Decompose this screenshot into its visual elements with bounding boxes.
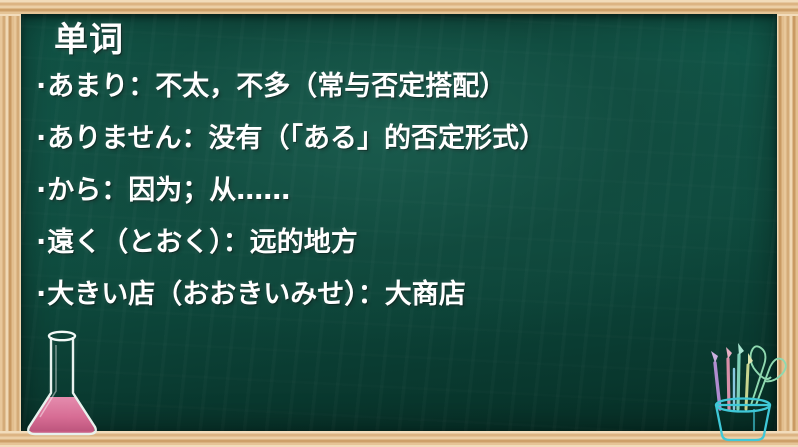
bullet-marker-icon: · xyxy=(36,229,46,256)
slide-content: 单词 · あまり：不太，不多（常与否定搭配） · ありません：没有（「ある」的否… xyxy=(36,10,778,308)
bullet-marker-icon: · xyxy=(36,281,46,308)
chalkboard-slide: 单词 · あまり：不太，不多（常与否定搭配） · ありません：没有（「ある」的否… xyxy=(0,0,798,447)
list-item-label: あまり：不太，不多（常与否定搭配） xyxy=(47,73,506,100)
list-item-label: ありません：没有（「ある」的否定形式） xyxy=(47,125,546,152)
bullet-marker-icon: · xyxy=(36,177,46,204)
page-title: 单词 xyxy=(54,22,778,59)
list-item: · 遠く（とおく）：远的地方 xyxy=(36,229,778,256)
list-item: · ありません：没有（「ある」的否定形式） xyxy=(36,125,778,152)
list-item-label: 大きい店（おおきいみせ）：大商店 xyxy=(47,281,466,308)
wooden-frame-bottom xyxy=(0,431,798,447)
vocabulary-list: · あまり：不太，不多（常与否定搭配） · ありません：没有（「ある」的否定形式… xyxy=(36,73,778,308)
list-item-label: から：因为；从…… xyxy=(47,177,290,204)
bullet-marker-icon: · xyxy=(36,125,46,152)
bullet-marker-icon: · xyxy=(36,73,46,100)
list-item: · から：因为；从…… xyxy=(36,177,778,204)
list-item: · 大きい店（おおきいみせ）：大商店 xyxy=(36,281,778,308)
list-item-label: 遠く（とおく）：远的地方 xyxy=(47,229,358,256)
list-item: · あまり：不太，不多（常与否定搭配） xyxy=(36,73,778,100)
